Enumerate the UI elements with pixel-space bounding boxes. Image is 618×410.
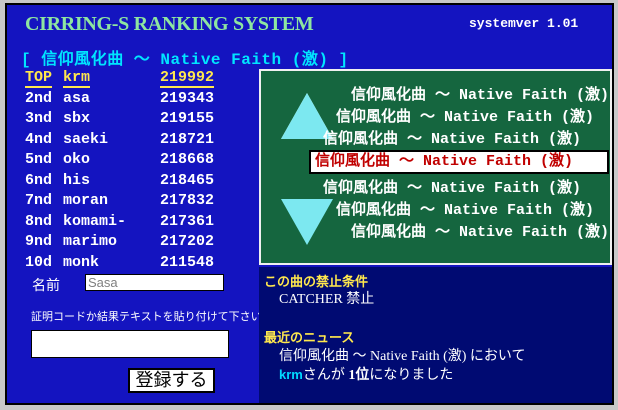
paste-instruction-label: 証明コードか結果テキストを貼り付けて下さい — [31, 308, 262, 324]
rank-player-name: moran — [63, 192, 108, 209]
rank-score: 211548 — [160, 254, 214, 271]
rank-score: 219155 — [160, 110, 214, 127]
rank-player-name: his — [63, 172, 90, 189]
song-selector-panel: 信仰風化曲 ～ Native Faith (激)信仰風化曲 ～ Native F… — [259, 69, 612, 265]
recent-news-heading: 最近のニュース — [264, 327, 354, 346]
rank-score: 219992 — [160, 69, 214, 88]
rank-player-name: saeki — [63, 131, 108, 148]
table-row: 5ndoko218668 — [25, 151, 239, 172]
song-option[interactable]: 信仰風化曲 ～ Native Faith (激) — [351, 222, 609, 244]
rank-score: 218721 — [160, 131, 214, 148]
rank-score: 218668 — [160, 151, 214, 168]
application-window: CIRRING-S RANKING SYSTEM systemver 1.01 … — [0, 0, 618, 410]
rank-position: 8nd — [25, 213, 52, 230]
rank-position: 4nd — [25, 131, 52, 148]
window-frame: CIRRING-S RANKING SYSTEM systemver 1.01 … — [5, 3, 614, 405]
ranking-list: TOPkrm2199922ndasa2193433ndsbx2191554nds… — [25, 69, 239, 274]
news-rank: 1位 — [348, 368, 369, 383]
info-panel: この曲の禁止条件 CATCHER 禁止 最近のニュース 信仰風化曲 ～ Nati… — [259, 267, 612, 404]
table-row: 4ndsaeki218721 — [25, 131, 239, 152]
rank-position: 5nd — [25, 151, 52, 168]
rank-position: 3nd — [25, 110, 52, 127]
news-line-song: 信仰風化曲 ～ Native Faith (激) において — [279, 345, 526, 365]
rank-score: 217832 — [160, 192, 214, 209]
table-row: 9ndmarimo217202 — [25, 233, 239, 254]
table-row: 10dmonk211548 — [25, 254, 239, 275]
page-stage: CIRRING-S RANKING SYSTEM systemver 1.01 … — [7, 5, 612, 404]
song-option[interactable]: 信仰風化曲 ～ Native Faith (激) — [323, 178, 581, 200]
song-option[interactable]: 信仰風化曲 ～ Native Faith (激) — [323, 129, 581, 151]
table-row: 6ndhis218465 — [25, 172, 239, 193]
rank-position: 7nd — [25, 192, 52, 209]
news-suffix-2: になりました — [369, 368, 453, 383]
news-username: krm — [279, 367, 303, 382]
current-song-heading: [ 信仰風化曲 ～ Native Faith (激) ] — [21, 45, 349, 69]
table-row: 8ndkomami-217361 — [25, 213, 239, 234]
rank-score: 219343 — [160, 90, 214, 107]
rank-position: 2nd — [25, 90, 52, 107]
song-option[interactable]: 信仰風化曲 ～ Native Faith (激) — [351, 85, 609, 107]
rank-score: 218465 — [160, 172, 214, 189]
proof-code-textarea[interactable] — [31, 330, 229, 358]
rank-player-name: sbx — [63, 110, 90, 127]
table-row: 7ndmoran217832 — [25, 192, 239, 213]
rank-score: 217202 — [160, 233, 214, 250]
rank-player-name: marimo — [63, 233, 117, 250]
news-suffix-1: さんが — [303, 368, 349, 383]
rank-player-name: krm — [63, 69, 90, 88]
rank-player-name: komami- — [63, 213, 126, 230]
rank-score: 217361 — [160, 213, 214, 230]
news-line-result: krmさんが 1位になりました — [279, 364, 453, 384]
rank-position: TOP — [25, 69, 52, 88]
table-row: 3ndsbx219155 — [25, 110, 239, 131]
page-title: CIRRING-S RANKING SYSTEM — [25, 13, 313, 36]
rank-player-name: asa — [63, 90, 90, 107]
name-label: 名前 — [32, 275, 60, 295]
table-row: 2ndasa219343 — [25, 90, 239, 111]
song-option[interactable]: 信仰風化曲 ～ Native Faith (激) — [336, 107, 594, 129]
rank-position: 10d — [25, 254, 52, 271]
song-option-selected[interactable]: 信仰風化曲 ～ Native Faith (激) — [309, 150, 609, 174]
song-carousel: 信仰風化曲 ～ Native Faith (激)信仰風化曲 ～ Native F… — [261, 75, 612, 265]
register-button[interactable]: 登録する — [128, 368, 215, 393]
ban-conditions-text: CATCHER 禁止 — [279, 288, 374, 308]
system-version-label: systemver 1.01 — [469, 16, 578, 31]
table-row: TOPkrm219992 — [25, 69, 239, 90]
rank-position: 9nd — [25, 233, 52, 250]
song-option[interactable]: 信仰風化曲 ～ Native Faith (激) — [336, 200, 594, 222]
name-input[interactable] — [85, 274, 224, 291]
rank-position: 6nd — [25, 172, 52, 189]
rank-player-name: oko — [63, 151, 90, 168]
rank-player-name: monk — [63, 254, 99, 271]
